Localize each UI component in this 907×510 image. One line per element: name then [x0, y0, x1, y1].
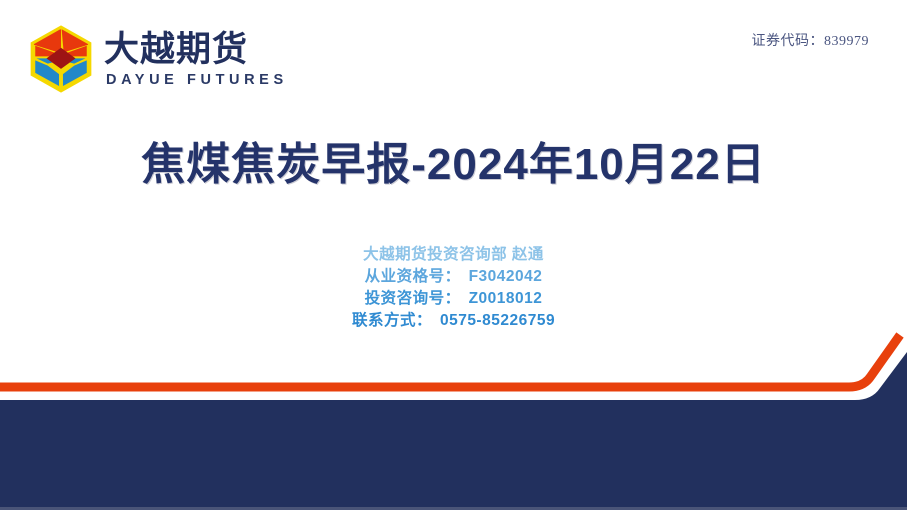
contact-line: 联系方式：0575-85226759	[0, 310, 907, 332]
page-title-year-number: 2024	[427, 140, 529, 189]
brand-wordmark: 大越期货 DAYUE FUTURES	[104, 32, 288, 88]
presentation-title-slide: 大越期货 DAYUE FUTURES 证券代码：839979 焦煤焦炭早报-20…	[0, 0, 907, 510]
practice-license-line: 从业资格号：F3042042	[0, 266, 907, 288]
contact-label: 联系方式：	[352, 312, 432, 329]
page-title-year-char: 年	[529, 140, 574, 189]
navy-band-shape	[0, 352, 907, 510]
page-title: 焦煤焦炭早报-2024年10月22日	[0, 128, 907, 192]
page-title-topic: 焦煤焦炭早报	[141, 140, 411, 189]
consulting-license-label: 投资咨询号：	[365, 290, 461, 307]
dayue-cube-logo-icon	[28, 24, 94, 94]
page-title-month-char: 月	[625, 140, 670, 189]
orange-accent-stripe	[0, 335, 900, 387]
author-department-and-name: 大越期货投资咨询部 赵通	[0, 244, 907, 266]
practice-license-label: 从业资格号：	[365, 268, 461, 285]
contact-value: 0575-85226759	[440, 312, 555, 329]
page-title-month-number: 10	[574, 140, 625, 189]
consulting-license-value: Z0018012	[469, 290, 543, 307]
stock-code-label: 证券代码：839979	[752, 30, 870, 50]
brand-name-en: DAYUE FUTURES	[106, 72, 288, 88]
page-title-day-number: 22	[670, 140, 721, 189]
brand-logo: 大越期货 DAYUE FUTURES	[28, 24, 288, 94]
brand-name-cn: 大越期货	[104, 32, 288, 69]
consulting-license-line: 投资咨询号：Z0018012	[0, 288, 907, 310]
practice-license-value: F3042042	[469, 268, 543, 285]
author-info-block: 大越期货投资咨询部 赵通 从业资格号：F3042042 投资咨询号：Z00180…	[0, 244, 907, 332]
page-title-day-char: 日	[721, 140, 766, 189]
page-title-dash: -	[411, 140, 427, 189]
bottom-decoration	[0, 330, 907, 510]
